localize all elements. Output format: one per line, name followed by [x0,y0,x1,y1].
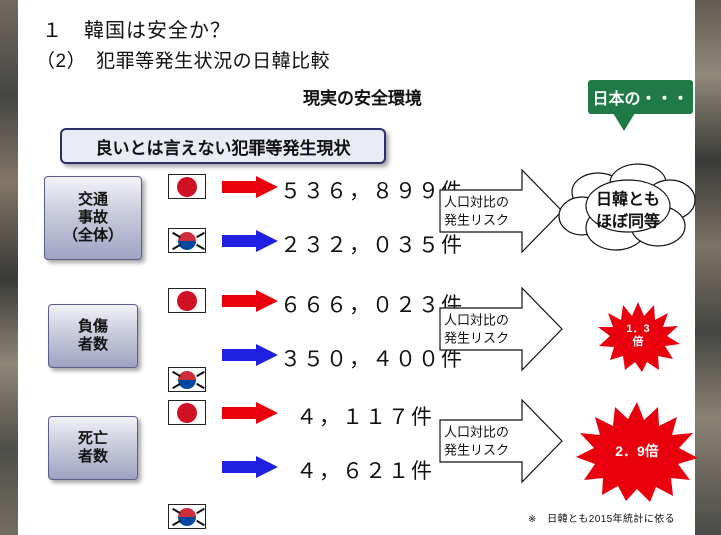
korea-flag-trigram [172,383,181,389]
result-burst-1: 1．3 倍 [596,300,680,372]
korea-flag-icon [168,504,206,529]
korea-flag-trigram [196,520,205,526]
cloud-callout: 日韓とも ほぼ同等 [554,158,702,264]
risk-arrow-label-2: 人口対比の 発生リスク [444,423,509,458]
category-box-2: 死亡 者数 [48,416,138,480]
risk-arrow-line1: 人口対比の [444,424,509,439]
value-jp-0: ５３６，８９９件 [280,175,464,205]
value-kr-2: ４，６２１件 [296,455,434,485]
green-callout-tail [613,113,635,131]
result-burst-2: 2．9倍 [574,400,700,502]
status-banner: 良いとは言えない犯罪等発生現状 [60,128,386,164]
footnote: ※ 日韓とも2015年統計に依る [528,510,675,525]
status-banner-label: 良いとは言えない犯罪等発生現状 [96,134,351,159]
blue-arrow-icon [222,456,278,478]
risk-arrow-label-1: 人口対比の 発生リスク [444,311,509,346]
value-kr-0: ２３２，０３５件 [280,229,464,259]
value-jp-1: ６６６，０２３件 [280,289,464,319]
korea-flag-trigram [196,371,205,377]
korea-flag-trigram [196,244,205,250]
risk-arrow-1: 人口対比の 発生リスク [438,286,564,372]
red-arrow-icon [222,176,278,198]
section-title: 現実の安全環境 [303,84,422,109]
risk-arrow-2: 人口対比の 発生リスク [438,398,564,484]
risk-arrow-line2: 発生リスク [444,442,509,457]
category-box-1: 負傷 者数 [48,304,138,368]
cloud-text: 日韓とも ほぼ同等 [554,189,702,232]
page-subtitle: （2） 犯罪等発生状況の日韓比較 [36,46,330,73]
category-line2: 者数 [78,448,108,466]
korea-flag-trigram [172,244,181,250]
category-line1: 交通 [78,191,108,209]
risk-arrow-line2: 発生リスク [444,212,509,227]
value-kr-1: ３５０，４００件 [280,343,464,373]
japan-flag-icon [168,288,206,313]
risk-arrow-line1: 人口対比の [444,312,509,327]
value-jp-2: ４，１１７件 [296,401,434,431]
result-line2: 倍 [633,336,644,348]
cloud-line2: ほぼ同等 [596,213,660,230]
risk-arrow-0: 人口対比の 発生リスク [438,168,564,254]
red-arrow-icon [222,290,278,312]
result-line1: 1．3 [626,323,649,335]
cloud-line1: 日韓とも [596,191,660,208]
korea-flag-trigram [172,371,181,377]
korea-flag-trigram [172,508,181,514]
blue-arrow-icon [222,230,278,252]
category-line2: 事故 [78,209,108,227]
japan-flag-disc [177,177,197,197]
red-arrow-icon [222,402,278,424]
japan-flag-disc [177,403,197,423]
category-line2: 者数 [78,336,108,354]
category-box-0: 交通 事故 （全体） [44,176,142,260]
risk-arrow-line1: 人口対比の [444,194,509,209]
japan-flag-icon [168,400,206,425]
green-callout-box: 日本の・・・ [588,80,693,114]
risk-arrow-line2: 発生リスク [444,330,509,345]
category-line1: 死亡 [78,430,108,448]
korea-flag-taeguk [178,371,196,389]
category-line1: 負傷 [78,318,108,336]
blue-arrow-icon [222,344,278,366]
korea-flag-taeguk [178,508,196,526]
korea-flag-trigram [196,383,205,389]
page-title: １ 韓国は安全か？ [42,14,231,43]
result-burst-text-2: 2．9倍 [574,441,700,461]
korea-flag-taeguk [178,232,196,250]
category-line3: （全体） [63,227,123,245]
korea-flag-trigram [172,520,181,526]
left-photo-strip [0,0,18,535]
korea-flag-trigram [196,232,205,238]
slide-canvas: １ 韓国は安全か？ （2） 犯罪等発生状況の日韓比較 現実の安全環境 日本の・・… [18,0,695,535]
japan-flag-icon [168,174,206,199]
japan-flag-disc [177,291,197,311]
korea-flag-icon [168,367,206,392]
risk-arrow-label-0: 人口対比の 発生リスク [444,193,509,228]
korea-flag-trigram [196,508,205,514]
korea-flag-icon [168,228,206,253]
green-callout-label: 日本の・・・ [592,85,688,109]
result-burst-text-1: 1．3 倍 [596,323,680,349]
korea-flag-trigram [172,232,181,238]
result-line1: 2．9倍 [615,443,659,459]
